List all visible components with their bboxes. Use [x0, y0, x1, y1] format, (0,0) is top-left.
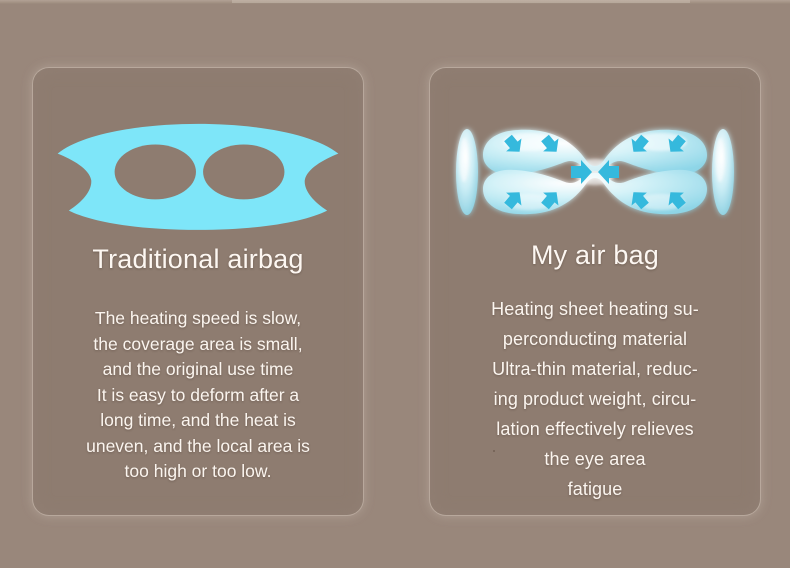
left-eye-opening: [115, 144, 196, 199]
panel-heading-traditional: Traditional airbag: [33, 244, 363, 275]
panel-body-traditional: The heating speed is slow, the coverage …: [41, 306, 355, 485]
right-side-lens: [712, 129, 734, 215]
panel-my-air-bag: My air bag Heating sheet heating su- per…: [430, 68, 760, 515]
panel-traditional-airbag: Traditional airbag The heating speed is …: [33, 68, 363, 515]
my-airbag-graphic: [430, 112, 760, 232]
my-airbag-svg: [430, 112, 760, 232]
infographic-stage: Traditional airbag The heating speed is …: [0, 0, 790, 568]
panel-body-my-air-bag: Heating sheet heating su- perconducting …: [438, 294, 752, 504]
left-side-lens: [456, 129, 478, 215]
panel-heading-my-air-bag: My air bag: [430, 240, 760, 271]
traditional-airbag-shape: [58, 124, 339, 230]
traditional-airbag-svg: [33, 116, 363, 236]
traditional-airbag-graphic: [33, 116, 363, 236]
dust-speck: [493, 450, 495, 452]
top-edge-highlight: [232, 0, 690, 3]
right-eye-opening: [203, 144, 284, 199]
